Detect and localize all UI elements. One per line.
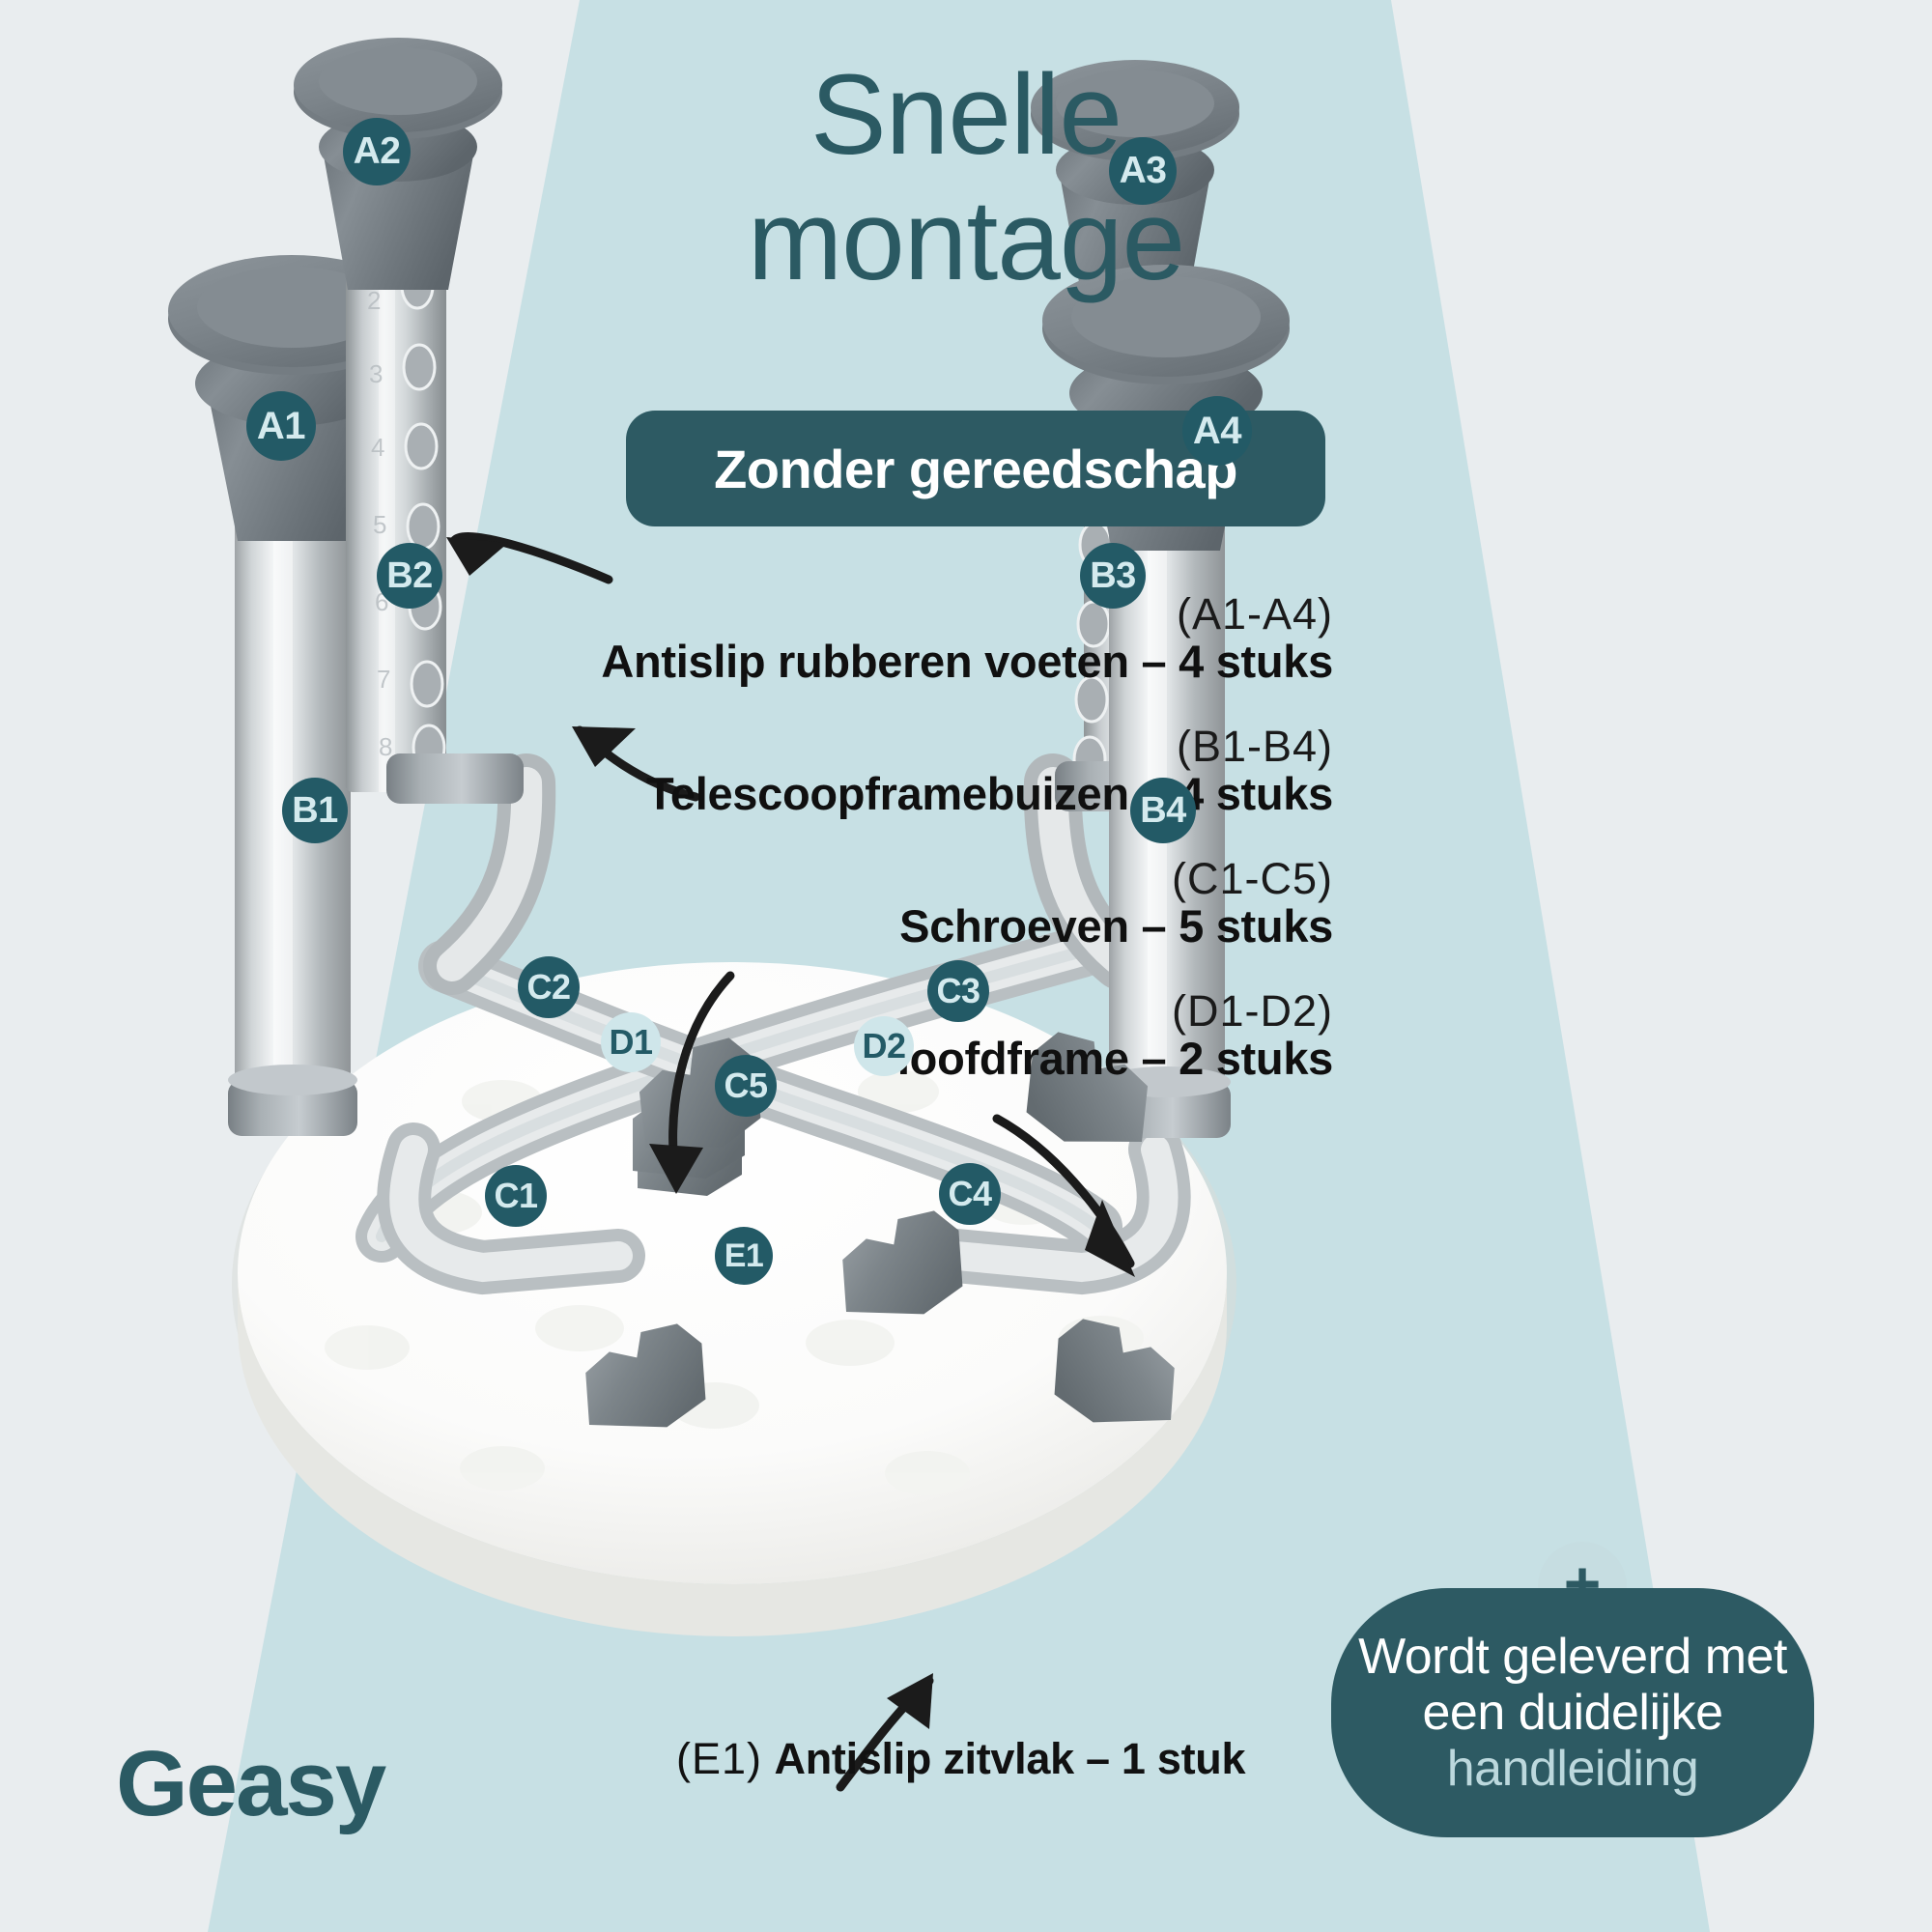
legend-code-b: (B1-B4) [541,724,1333,769]
part-badge-a2: A2 [343,118,411,185]
e1-caption-code: (E1) [676,1734,762,1783]
part-badge-b4: B4 [1130,778,1196,843]
part-badge-c5: C5 [715,1055,777,1117]
legend-desc-b: Telescoopframebuizen – 4 stuks [541,769,1333,819]
legend-desc-c: Schroeven – 5 stuks [541,901,1333,952]
svg-text:8: 8 [379,732,392,761]
page-title: Snelle montage [599,58,1333,298]
part-badge-e1: E1 [715,1227,773,1285]
manual-badge-line-2: een duidelijke [1422,1685,1722,1741]
legend-item-c: (C1-C5) Schroeven – 5 stuks [541,856,1333,952]
part-badge-b3: B3 [1080,543,1146,609]
legend-code-a: (A1-A4) [541,591,1333,637]
legend-desc-a: Antislip rubberen voeten – 4 stuks [541,637,1333,687]
part-badge-a4: A4 [1182,396,1252,466]
manual-included-badge: Wordt geleverd met een duidelijke handle… [1331,1588,1814,1837]
part-badge-d1: D1 [601,1012,661,1072]
part-badge-d2: D2 [854,1016,914,1076]
part-badge-a3: A3 [1109,137,1177,205]
e1-caption: (E1) Antislip zitvlak – 1 stuk [676,1734,1245,1784]
headline-line-2: montage [599,184,1333,298]
manual-badge-line-3: handleiding [1447,1741,1699,1797]
svg-text:5: 5 [373,510,386,539]
part-badge-c1: C1 [485,1165,547,1227]
brand-logo: Geasy [116,1731,384,1837]
legend-code-c: (C1-C5) [541,856,1333,901]
legend-item-b: (B1-B4) Telescoopframebuizen – 4 stuks [541,724,1333,819]
svg-text:2: 2 [367,286,381,315]
svg-text:4: 4 [371,433,384,462]
part-badge-c2: C2 [518,956,580,1018]
svg-text:3: 3 [369,359,383,388]
legend-item-a: (A1-A4) Antislip rubberen voeten – 4 stu… [541,591,1333,687]
part-badge-a1: A1 [246,391,316,461]
brand-logo-text: Geasy [116,1732,384,1835]
svg-text:7: 7 [377,665,390,694]
headline-line-1: Snelle [810,51,1122,179]
part-badge-b2: B2 [377,543,442,609]
part-badge-c4: C4 [939,1163,1001,1225]
part-badge-b1: B1 [282,778,348,843]
poster-canvas: 12 34 56 78 [0,0,1932,1932]
no-tools-badge-label: Zonder gereedschap [714,438,1237,500]
e1-caption-desc: Antislip zitvlak – 1 stuk [775,1734,1246,1783]
manual-badge-line-1: Wordt geleverd met [1358,1629,1787,1685]
part-badge-c3: C3 [927,960,989,1022]
